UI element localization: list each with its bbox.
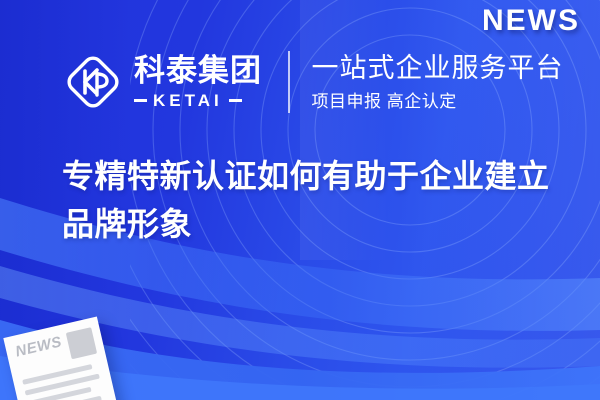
photo-placeholder-icon (66, 327, 97, 359)
banner-header: 科泰集团 KETAI 一站式企业服务平台 项目申报 高企认定 (62, 42, 564, 122)
ketai-logo[interactable]: 科泰集团 KETAI (62, 51, 262, 113)
logo-dash-left-icon (134, 99, 147, 102)
logo-company-name-en-row: KETAI (134, 92, 262, 109)
slogan-main-text: 一站式企业服务平台 (312, 53, 564, 84)
news-banner: 科泰集团 KETAI 一站式企业服务平台 项目申报 高企认定 NEWS 专精特新… (0, 0, 600, 400)
newspaper-text-lines (22, 362, 110, 400)
header-divider (288, 51, 290, 113)
ketai-diamond-kp-icon (62, 51, 124, 113)
headline-title: 专精特新认证如何有助于企业建立品牌形象 (62, 152, 562, 248)
newspaper-masthead: NEWS (14, 334, 63, 359)
logo-company-name-en: KETAI (153, 92, 223, 109)
logo-dash-right-icon (229, 99, 242, 102)
slogan-block: 一站式企业服务平台 项目申报 高企认定 (312, 53, 564, 112)
logo-company-name-cn: 科泰集团 (134, 55, 262, 86)
news-wordmark: NEWS (482, 6, 580, 36)
ketai-logo-words: 科泰集团 KETAI (134, 55, 262, 109)
slogan-sub-text: 项目申报 高企认定 (312, 92, 564, 112)
